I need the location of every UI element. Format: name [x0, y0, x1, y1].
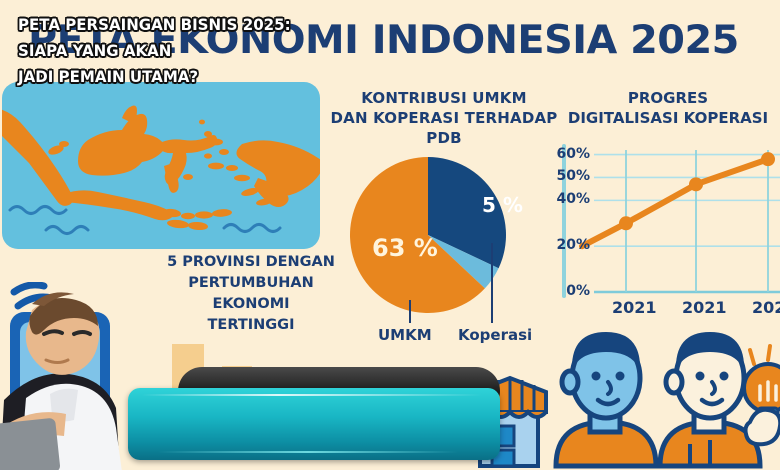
indonesia-map-icon [2, 82, 320, 249]
pie-title-line2: DAN KOPERASI TERHADAP [330, 108, 558, 128]
banner-shine-top [142, 394, 482, 396]
y-tick-label: 20% [556, 237, 590, 253]
data-point [761, 152, 775, 166]
y-tick-label: 40% [556, 191, 590, 207]
leader-line-umkm [409, 300, 411, 323]
x-tick-label: 2021 [612, 298, 657, 317]
banner-line2: JADI PEMAIN UTAMA? [18, 64, 336, 90]
person-with-lightbulb-illustration [656, 330, 780, 470]
pie-legend-koperasi: Koperasi [458, 326, 532, 344]
pie-chart-title: KONTRIBUSI UMKM DAN KOPERASI TERHADAP PD… [330, 88, 558, 148]
line-chart: 0%20%40%50%60% [556, 140, 780, 320]
pie-legend-umkm: UMKM [378, 326, 432, 344]
banner-text: PETA PERSAINGAN BISNIS 2025: SIAPA YANG … [18, 12, 336, 90]
line-title-line1: PROGRES [556, 88, 780, 108]
lightbulb-icon [744, 346, 780, 444]
x-tick-label: 2025 [752, 298, 780, 317]
provinsi-line1: 5 PROVINSI DENGAN [148, 252, 354, 273]
pie-title-line3: PDB [330, 128, 558, 148]
line-title-line2: DIGITALISASI KOPERASI [556, 108, 780, 128]
y-tick-label: 0% [566, 283, 590, 299]
person-blue-illustration [546, 330, 666, 470]
infographic-canvas: PETA EKONOMI INDONESIA 2025 [0, 0, 780, 470]
data-point [689, 177, 703, 191]
pie-value-umkm: 63 % [372, 234, 438, 262]
line-series [582, 159, 768, 246]
y-tick-label: 60% [556, 146, 590, 162]
y-tick-label: 50% [556, 168, 590, 184]
line-chart-title: PROGRES DIGITALISASI KOPERASI [556, 88, 780, 128]
x-tick-label: 2021 [682, 298, 727, 317]
banner-line1: PETA PERSAINGAN BISNIS 2025: SIAPA YANG … [18, 12, 336, 64]
banner-shine-bottom [158, 451, 458, 453]
indonesia-map-panel [2, 82, 320, 249]
leader-line-koperasi [491, 243, 493, 323]
pie-value-koperasi: 5 % [482, 193, 523, 217]
pie-title-line1: KONTRIBUSI UMKM [330, 88, 558, 108]
headline-banner[interactable] [128, 388, 500, 460]
data-point [619, 216, 633, 230]
